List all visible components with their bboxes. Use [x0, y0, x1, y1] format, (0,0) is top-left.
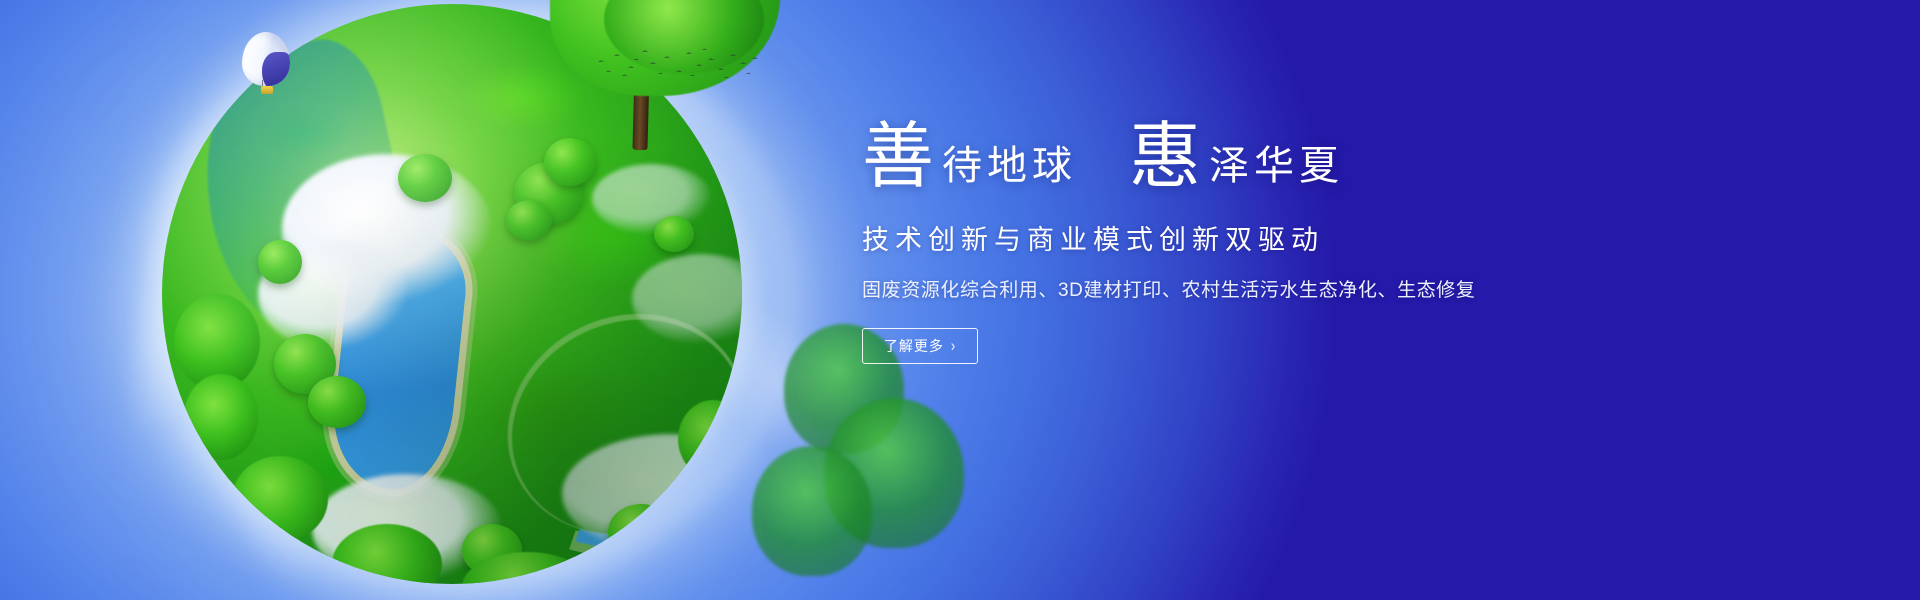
planet-cloud [282, 154, 492, 304]
headline-phrase-one-big: 善 [862, 124, 934, 192]
rim-foliage [184, 374, 258, 460]
headline-phrase-one-small: 待地球 [942, 146, 1077, 192]
hero-content: 善 待地球 惠 泽华夏 技术创新与商业模式创新双驱动 固废资源化综合利用、3D建… [862, 124, 1682, 364]
chevron-right-icon: › [951, 336, 956, 355]
silhouette-tree [752, 446, 872, 576]
description: 固废资源化综合利用、3D建材打印、农村生活污水生态净化、生态修复 [862, 275, 1682, 302]
tree-clump [274, 334, 336, 394]
balloon-basket [261, 86, 273, 94]
learn-more-label: 了解更多 [884, 336, 944, 356]
tree-clump [506, 200, 552, 240]
subtitle: 技术创新与商业模式创新双驱动 [862, 218, 1682, 257]
lake [327, 229, 471, 495]
tree-clump [258, 240, 302, 284]
tree-clump [654, 216, 694, 252]
planet-cloud [632, 254, 742, 344]
tree-clump [514, 162, 584, 224]
bird-flock-icon [590, 42, 770, 90]
headline-phrase-two-big: 惠 [1129, 124, 1201, 192]
hot-air-balloon-icon [242, 32, 290, 94]
learn-more-button[interactable]: 了解更多 › [862, 328, 978, 364]
headline: 善 待地球 惠 泽华夏 [862, 124, 1682, 192]
mountain-ridge [180, 29, 426, 352]
hero-banner: 善 待地球 惠 泽华夏 技术创新与商业模式创新双驱动 固废资源化综合利用、3D建… [0, 0, 1920, 600]
rim-foliage [462, 552, 592, 584]
tree-clump [308, 376, 366, 428]
tree-clump [398, 154, 452, 202]
rim-foliage [174, 294, 260, 390]
planet-cloud [258, 240, 408, 350]
tree-clump [462, 524, 522, 576]
rim-foliage [678, 400, 742, 478]
planet-cloud [592, 164, 712, 234]
balloon-envelope [242, 32, 290, 86]
rim-foliage [232, 456, 328, 542]
tree-clump [544, 138, 596, 186]
rim-foliage [332, 524, 442, 584]
headline-phrase-two-small: 泽华夏 [1209, 146, 1344, 192]
